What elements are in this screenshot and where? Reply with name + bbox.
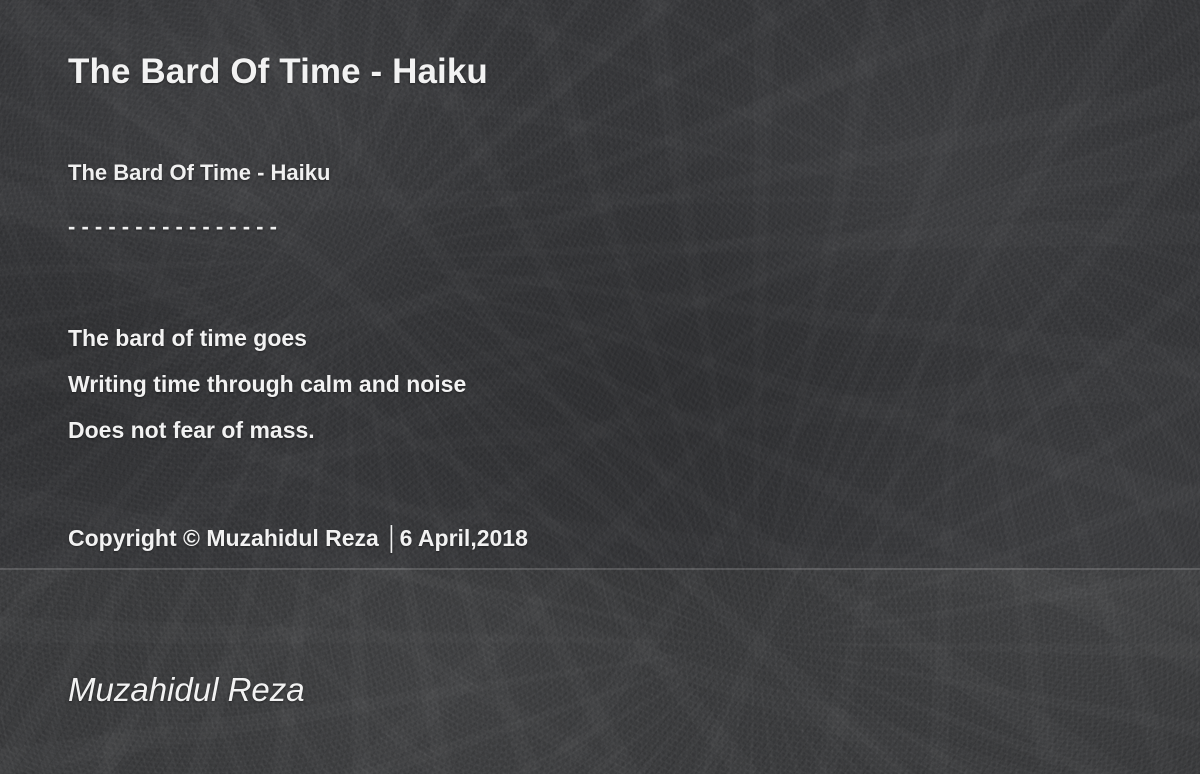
card-content: The Bard Of Time - Haiku The Bard Of Tim… <box>0 0 1200 774</box>
poem-line: Does not fear of mass. <box>68 407 1068 453</box>
poem-heading: The Bard Of Time - Haiku <box>68 160 330 186</box>
copyright-notice: Copyright © Muzahidul Reza │6 April,2018 <box>68 525 528 552</box>
poem-line: Writing time through calm and noise <box>68 361 1068 407</box>
page-title: The Bard Of Time - Haiku <box>68 52 488 92</box>
poem-body: The bard of time goes Writing time throu… <box>68 315 1068 453</box>
poem-image-card: The Bard Of Time - Haiku The Bard Of Tim… <box>0 0 1200 774</box>
poem-line: The bard of time goes <box>68 315 1068 361</box>
dashed-rule: - - - - - - - - - - - - - - - - <box>68 214 277 240</box>
author-signature: Muzahidul Reza <box>68 671 305 709</box>
